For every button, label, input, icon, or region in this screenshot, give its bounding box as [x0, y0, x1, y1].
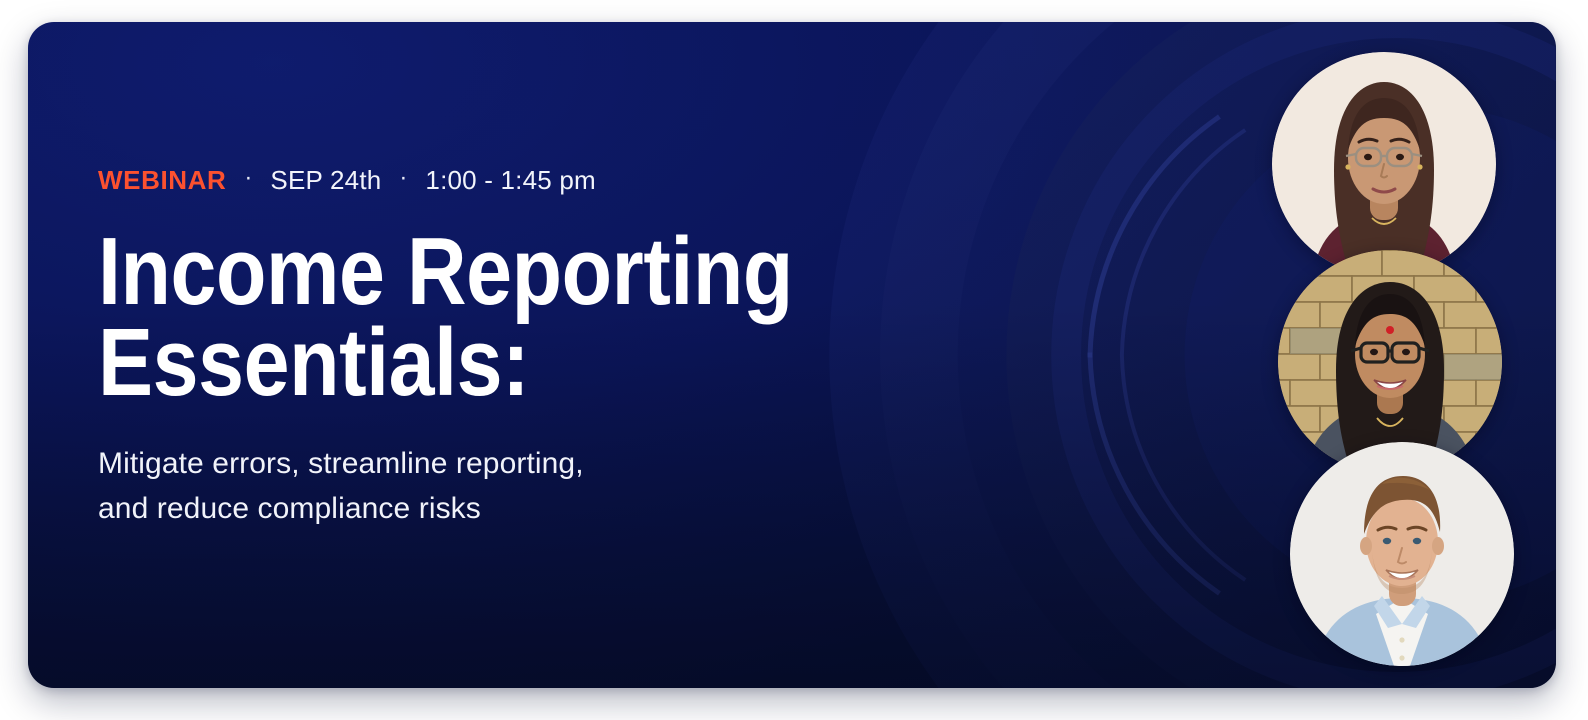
webinar-kicker: WEBINAR: [98, 165, 226, 196]
subhead-line-2: and reduce compliance risks: [98, 487, 918, 532]
headline-line-1: Income Reporting: [98, 226, 803, 317]
meta-separator-dot-2: ·: [381, 166, 425, 190]
webinar-banner: WEBINAR · SEP 24th · 1:00 - 1:45 pm Inco…: [0, 0, 1588, 720]
event-date: SEP 24th: [270, 165, 381, 196]
page-subtitle: Mitigate errors, streamline reporting, a…: [98, 442, 918, 531]
event-time: 1:00 - 1:45 pm: [425, 165, 595, 196]
avatar-speaker-2-photo: [1278, 250, 1502, 474]
avatar-speaker-2[interactable]: [1278, 250, 1502, 474]
avatar-speaker-1-photo: [1272, 52, 1496, 276]
subhead-line-1: Mitigate errors, streamline reporting,: [98, 442, 918, 487]
headline-line-2: Essentials:: [98, 317, 803, 408]
banner-content: WEBINAR · SEP 24th · 1:00 - 1:45 pm Inco…: [98, 22, 918, 688]
avatar-speaker-1[interactable]: [1272, 52, 1496, 276]
meta-separator-dot-1: ·: [226, 166, 270, 190]
banner-card: WEBINAR · SEP 24th · 1:00 - 1:45 pm Inco…: [28, 22, 1556, 688]
event-meta-row: WEBINAR · SEP 24th · 1:00 - 1:45 pm: [98, 165, 918, 196]
page-title: Income Reporting Essentials:: [98, 226, 803, 408]
avatar-speaker-3-photo: [1290, 442, 1514, 666]
avatar-speaker-3[interactable]: [1290, 442, 1514, 666]
